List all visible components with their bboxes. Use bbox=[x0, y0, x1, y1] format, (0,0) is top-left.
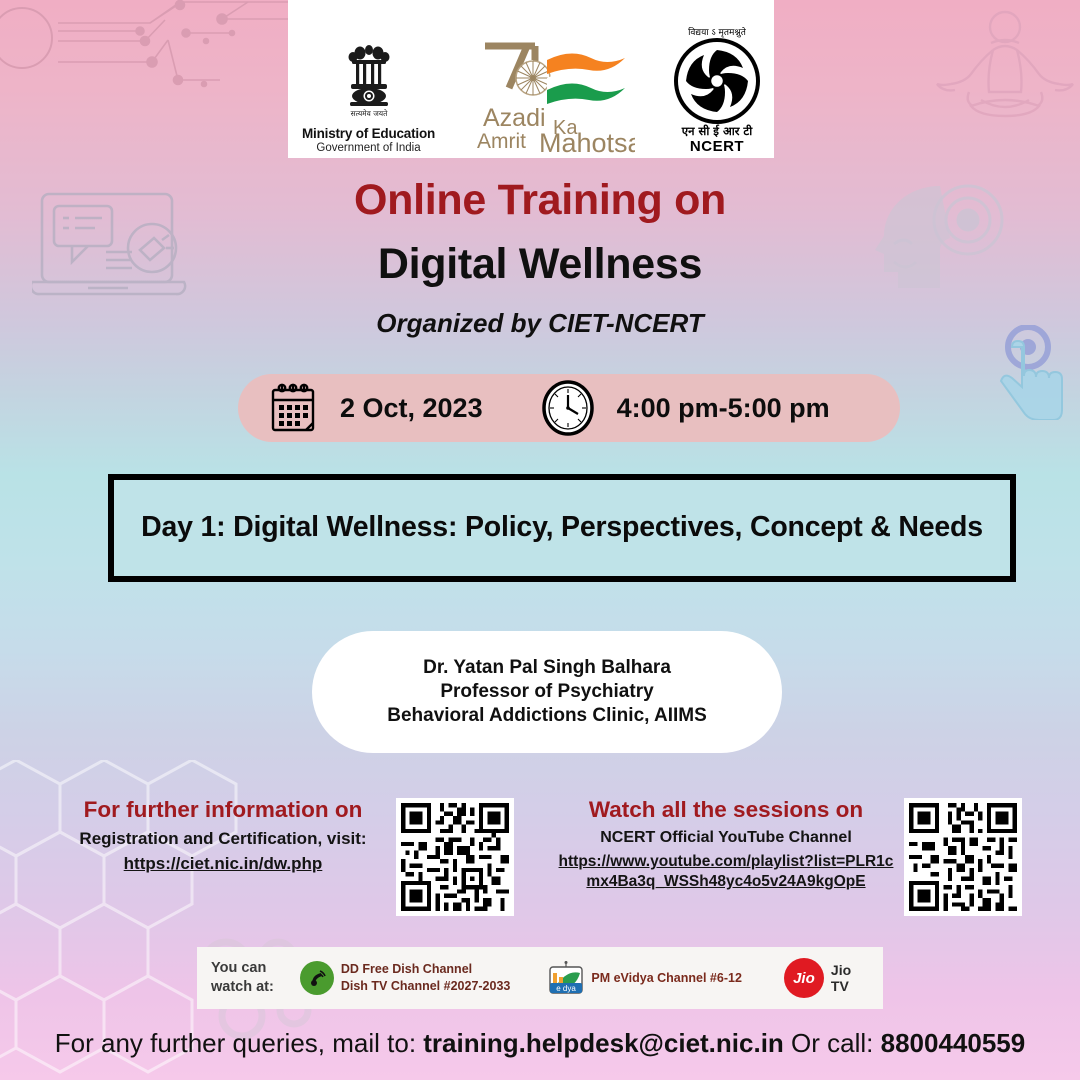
registration-subtext: Registration and Certification, visit: bbox=[58, 828, 388, 850]
youtube-playlist-link[interactable]: https://www.youtube.com/playlist?list=PL… bbox=[552, 852, 900, 892]
meditation-figure-icon bbox=[935, 10, 1075, 120]
logo-banner: सत्यमेव जयते Ministry of Education Gover… bbox=[288, 0, 774, 158]
azadi-ka-amrit-mahotsav-logo: Azadi Ka Amrit Mahotsav bbox=[475, 6, 635, 154]
organizer-text: Organized by CIET-NCERT bbox=[0, 308, 1080, 339]
jio-tv-icon: Jio bbox=[784, 958, 824, 998]
svg-text:सत्यमेव जयते: सत्यमेव जयते bbox=[350, 109, 388, 118]
qr-code-registration-icon[interactable] bbox=[396, 798, 514, 916]
ncert-hindi-name: एन सी ई आर टी bbox=[682, 124, 752, 139]
ncert-motto: विद्यया ऽ मृतमश्नुते bbox=[688, 25, 746, 38]
watch-at-label: You can watch at: bbox=[211, 959, 274, 997]
svg-text:Azadi: Azadi bbox=[483, 104, 546, 132]
speaker-name: Dr. Yatan Pal Singh Balhara bbox=[423, 656, 671, 680]
azadi-ka-amrit-mahotsav-icon: Azadi Ka Amrit Mahotsav bbox=[475, 34, 635, 154]
ministry-subtitle: Government of India bbox=[316, 142, 420, 154]
svg-text:e dya: e dya bbox=[557, 984, 577, 993]
ministry-of-education-logo: सत्यमेव जयते Ministry of Education Gover… bbox=[302, 6, 435, 154]
registration-info: For further information on Registration … bbox=[58, 796, 388, 875]
qr-code-youtube-icon[interactable] bbox=[904, 798, 1022, 916]
session-title: Day 1: Digital Wellness: Policy, Perspec… bbox=[141, 509, 983, 546]
speaker-designation: Professor of Psychiatry bbox=[440, 680, 653, 704]
channel-jio-tv: Jio Jio TV bbox=[784, 958, 869, 998]
watch-channels-strip: You can watch at: DD Free Dish Channel D… bbox=[197, 947, 883, 1009]
page-title-line2: Digital Wellness bbox=[0, 240, 1080, 289]
event-time: 4:00 pm-5:00 pm bbox=[617, 393, 830, 424]
jio-text: Jio TV bbox=[831, 962, 869, 994]
pm-evidya-icon: e dya bbox=[548, 961, 584, 995]
youtube-heading: Watch all the sessions on bbox=[552, 796, 900, 823]
ministry-name: Ministry of Education bbox=[302, 126, 435, 141]
page-title-line1: Online Training on bbox=[0, 176, 1080, 225]
watch-at-line1: You can bbox=[211, 959, 274, 978]
footer-email[interactable]: training.helpdesk@ciet.nic.in bbox=[423, 1028, 784, 1058]
channel-pm-evidya: e dya PM eVidya Channel #6-12 bbox=[548, 961, 742, 995]
svg-text:Amrit: Amrit bbox=[477, 130, 526, 153]
schedule-pill: 2 Oct, 2023 4:00 pm-5:00 pm bbox=[238, 374, 900, 442]
registration-link[interactable]: https://ciet.nic.in/dw.php bbox=[58, 853, 388, 875]
calendar-icon bbox=[268, 382, 318, 434]
event-date: 2 Oct, 2023 bbox=[340, 393, 483, 424]
youtube-info: Watch all the sessions on NCERT Official… bbox=[552, 796, 900, 892]
dd-free-dish-icon bbox=[300, 961, 334, 995]
speaker-affiliation: Behavioral Addictions Clinic, AIIMS bbox=[387, 704, 707, 728]
evidya-text: PM eVidya Channel #6-12 bbox=[591, 970, 742, 987]
dd-line1: DD Free Dish Channel bbox=[341, 961, 511, 978]
ncert-english-name: NCERT bbox=[690, 139, 744, 154]
tap-hand-icon bbox=[995, 325, 1070, 420]
ncert-logo-icon bbox=[674, 38, 760, 124]
svg-text:Mahotsav: Mahotsav bbox=[539, 128, 635, 154]
footer-phone[interactable]: 8800440559 bbox=[881, 1028, 1026, 1058]
session-title-box: Day 1: Digital Wellness: Policy, Perspec… bbox=[108, 474, 1016, 582]
watch-at-line2: watch at: bbox=[211, 978, 274, 997]
speaker-card: Dr. Yatan Pal Singh Balhara Professor of… bbox=[312, 631, 782, 753]
registration-heading: For further information on bbox=[58, 796, 388, 823]
dd-line2: Dish TV Channel #2027-2033 bbox=[341, 978, 511, 995]
circuit-pattern-icon bbox=[0, 0, 320, 100]
youtube-channel-name: NCERT Official YouTube Channel bbox=[552, 828, 900, 849]
channel-dd-free-dish: DD Free Dish Channel Dish TV Channel #20… bbox=[300, 961, 511, 995]
ncert-logo: विद्यया ऽ मृतमश्नुते एन सी ई आर टी NCERT bbox=[674, 6, 760, 154]
footer-contact: For any further queries, mail to: traini… bbox=[0, 1028, 1080, 1059]
channel-dd-text: DD Free Dish Channel Dish TV Channel #20… bbox=[341, 961, 511, 995]
india-state-emblem-icon: सत्यमेव जयते bbox=[347, 42, 391, 126]
footer-middle: Or call: bbox=[784, 1028, 881, 1058]
clock-icon bbox=[541, 380, 595, 436]
footer-prefix: For any further queries, mail to: bbox=[55, 1028, 423, 1058]
